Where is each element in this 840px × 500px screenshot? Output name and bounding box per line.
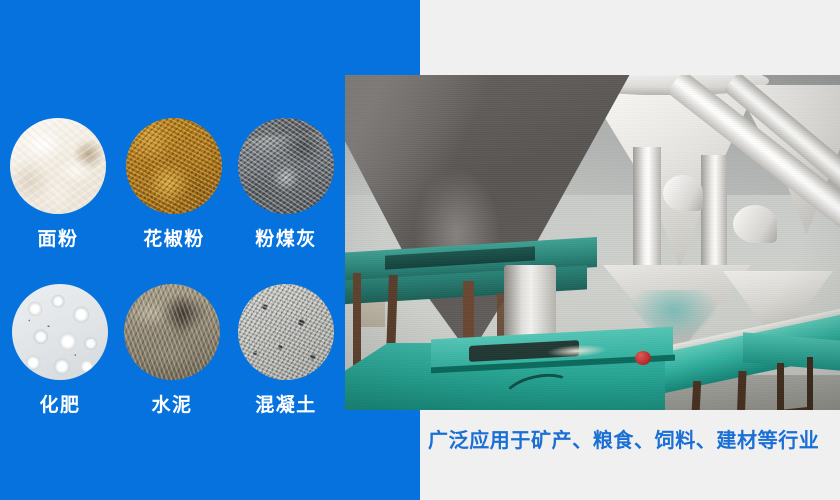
product-label: 水泥	[116, 390, 228, 417]
product-swatch-grid: 面粉 花椒粉 粉煤灰 化肥 水泥	[0, 118, 345, 448]
photo-vignette	[345, 75, 840, 410]
fertilizer-swatch	[12, 284, 108, 380]
fertilizer-texture	[12, 284, 108, 380]
footer-caption: 广泛应用于矿产、粮食、饲料、建材等行业	[428, 424, 819, 453]
fly-ash-swatch	[238, 118, 334, 214]
product-item-pepper-powder: 花椒粉	[118, 118, 230, 251]
product-item-cement: 水泥	[116, 284, 228, 417]
flour-texture	[10, 118, 106, 214]
product-item-fly-ash: 粉煤灰	[230, 118, 342, 251]
product-item-concrete: 混凝土	[230, 284, 342, 417]
promo-banner: 可在环境温度在–20~50℃的条件下水平、 倾斜或垂直输送200℃以下 面粉 花…	[0, 0, 840, 500]
pepper-powder-swatch	[126, 118, 222, 214]
product-label: 花椒粉	[118, 224, 230, 251]
product-item-flour: 面粉	[2, 118, 114, 251]
product-label: 化肥	[4, 390, 116, 417]
concrete-swatch	[238, 284, 334, 380]
product-label: 粉煤灰	[230, 224, 342, 251]
product-label: 混凝土	[230, 390, 342, 417]
conveyor-factory-photo	[345, 75, 840, 410]
product-label: 面粉	[2, 224, 114, 251]
concrete-texture	[238, 284, 334, 380]
fly-ash-texture	[238, 118, 334, 214]
pepper-powder-texture	[126, 118, 222, 214]
product-item-fertilizer: 化肥	[4, 284, 116, 417]
cement-swatch	[124, 284, 220, 380]
cement-texture	[124, 284, 220, 380]
flour-swatch	[10, 118, 106, 214]
